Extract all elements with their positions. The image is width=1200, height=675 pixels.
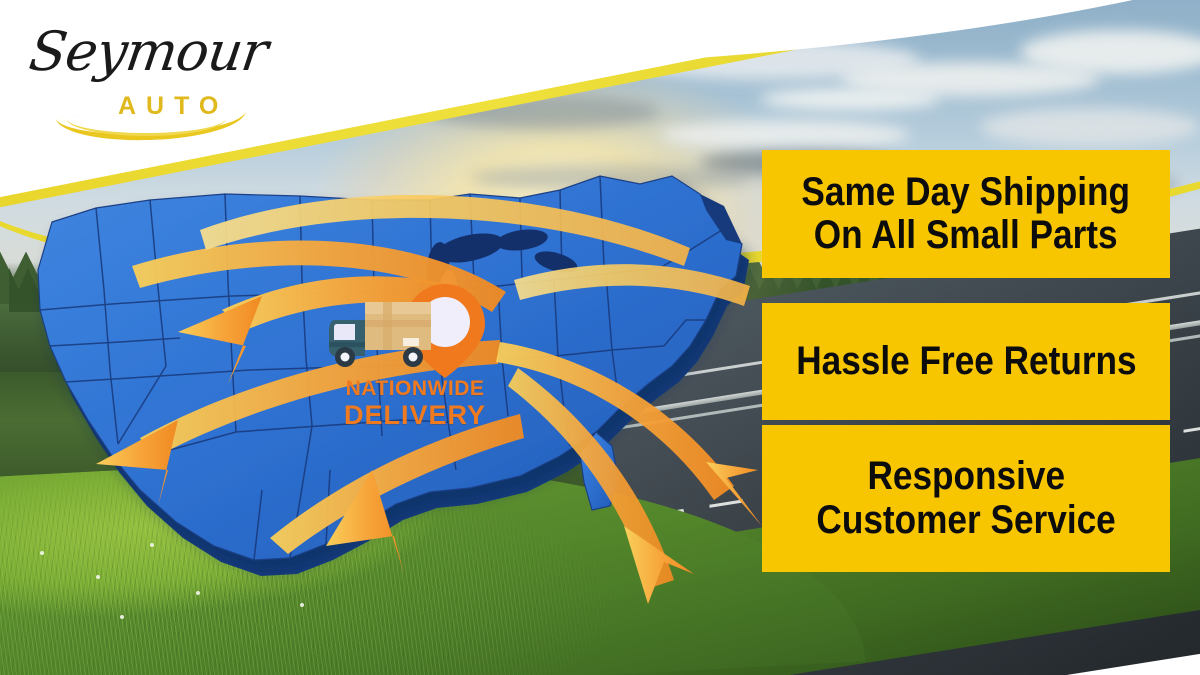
nationwide-delivery-badge: NATIONWIDE DELIVERY — [325, 280, 505, 455]
arrowhead — [624, 526, 694, 604]
promo-line: On All Small Parts — [814, 214, 1118, 257]
promo-list: Same Day Shipping On All Small Parts Has… — [762, 0, 1172, 675]
promo-banner: Seymour AUTO — [0, 0, 1200, 675]
promo-card-hassle-free-returns[interactable]: Hassle Free Returns — [762, 303, 1170, 420]
logo-wordmark: Seymour — [26, 20, 272, 83]
promo-line: Same Day Shipping — [802, 171, 1131, 214]
promo-line: Responsive — [867, 455, 1065, 498]
promo-card-same-day-shipping[interactable]: Same Day Shipping On All Small Parts — [762, 150, 1170, 278]
delivery-truck-icon — [329, 302, 431, 367]
logo-subtitle: AUTO — [118, 92, 228, 121]
brand-logo[interactable]: Seymour AUTO — [26, 18, 266, 128]
badge-line-2: DELIVERY — [325, 402, 505, 429]
promo-line: Customer Service — [816, 499, 1115, 542]
promo-line: Hassle Free Returns — [796, 340, 1136, 383]
badge-line-1: NATIONWIDE — [325, 378, 505, 399]
badge-caption: NATIONWIDE DELIVERY — [325, 378, 505, 429]
promo-card-responsive-customer-service[interactable]: Responsive Customer Service — [762, 425, 1170, 572]
